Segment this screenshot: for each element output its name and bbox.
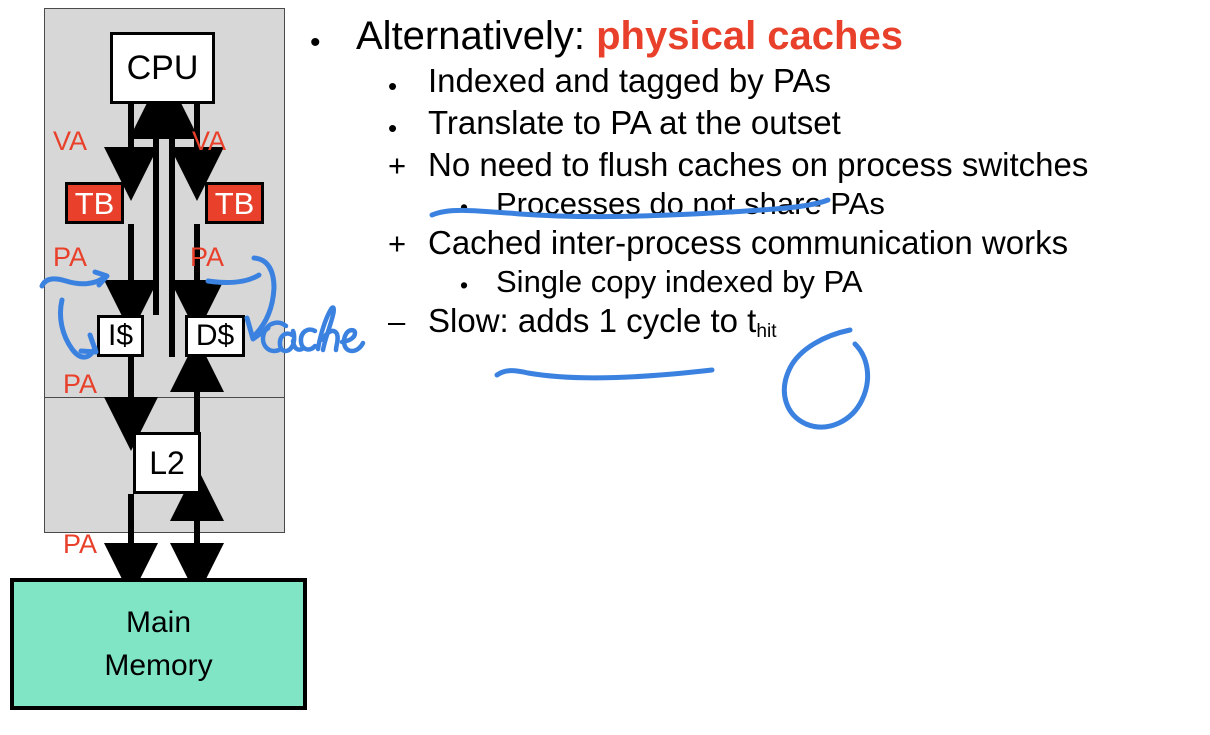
bullet-text: Indexed and tagged by PAs [428,64,831,97]
tb-right-label: TB [215,188,255,219]
main-memory-label-line2: Memory [104,644,212,688]
main-memory-label-line1: Main [126,601,191,645]
bullet-marker: • [460,266,496,297]
data-cache-box: D$ [185,315,245,357]
bullet-cached-ipc: + Cached inter-process communication wor… [310,226,1210,259]
bullet-marker: • [388,64,428,99]
instruction-cache-box: I$ [97,315,144,357]
label-pa-left-upper: PA [53,244,87,271]
bullet-single-copy: • Single copy indexed by PA [310,266,1210,297]
bullet-no-flush: + No need to flush caches on process swi… [310,148,1210,181]
main-memory-box: Main Memory [10,578,307,710]
bullet-text: Slow: adds 1 cycle to thit [428,304,777,337]
tb-box-left: TB [65,182,124,224]
l2-label: L2 [149,447,185,479]
bullet-level1: • Alternatively: physical caches [310,16,1210,58]
bullet-text: Translate to PA at the outset [428,106,841,139]
dcache-label: D$ [196,321,234,351]
bullet-level1-text: Alternatively: physical caches [356,16,903,56]
l2-cache-box: L2 [133,432,201,494]
bullet-text: Single copy indexed by PA [496,266,863,297]
bullet-indexed-tagged: • Indexed and tagged by PAs [310,64,1210,99]
bullet-text: Processes do not share PAs [496,188,885,219]
icache-label: I$ [108,321,133,351]
thit-subscript: hit [756,321,776,342]
bullet-translate-outset: • Translate to PA at the outset [310,106,1210,141]
bullet-text: Cached inter-process communication works [428,226,1068,259]
bullet-text: No need to flush caches on process switc… [428,148,1088,181]
tb-box-right: TB [205,182,264,224]
label-pa-right-upper: PA [190,244,224,271]
label-va-left: VA [53,128,87,155]
bullet-slow-text: Slow: adds 1 cycle to t [428,302,756,339]
cpu-box: CPU [110,32,215,104]
label-va-right: VA [192,128,226,155]
label-pa-mid: PA [63,371,97,398]
bullet-marker: • [310,16,356,58]
slide-canvas: CPU TB TB I$ D$ L2 Main Memory VA VA PA … [0,0,1210,735]
plus-marker: + [388,148,428,181]
bullet-slow-thit: – Slow: adds 1 cycle to thit [310,304,1210,337]
plus-marker: + [388,226,428,259]
tb-left-label: TB [75,188,115,219]
minus-marker: – [388,304,428,337]
bullet-marker: • [460,188,496,219]
bullet-level1-highlight: physical caches [596,14,903,58]
bullet-list: • Alternatively: physical caches • Index… [310,16,1210,344]
label-pa-bottom: PA [63,531,97,558]
bullet-level1-plain: Alternatively: [356,14,596,58]
memory-hierarchy-diagram: CPU TB TB I$ D$ L2 Main Memory VA VA PA … [0,0,320,735]
bullet-no-share-pas: • Processes do not share PAs [310,188,1210,219]
cpu-label: CPU [127,51,199,85]
bullet-marker: • [388,106,428,141]
